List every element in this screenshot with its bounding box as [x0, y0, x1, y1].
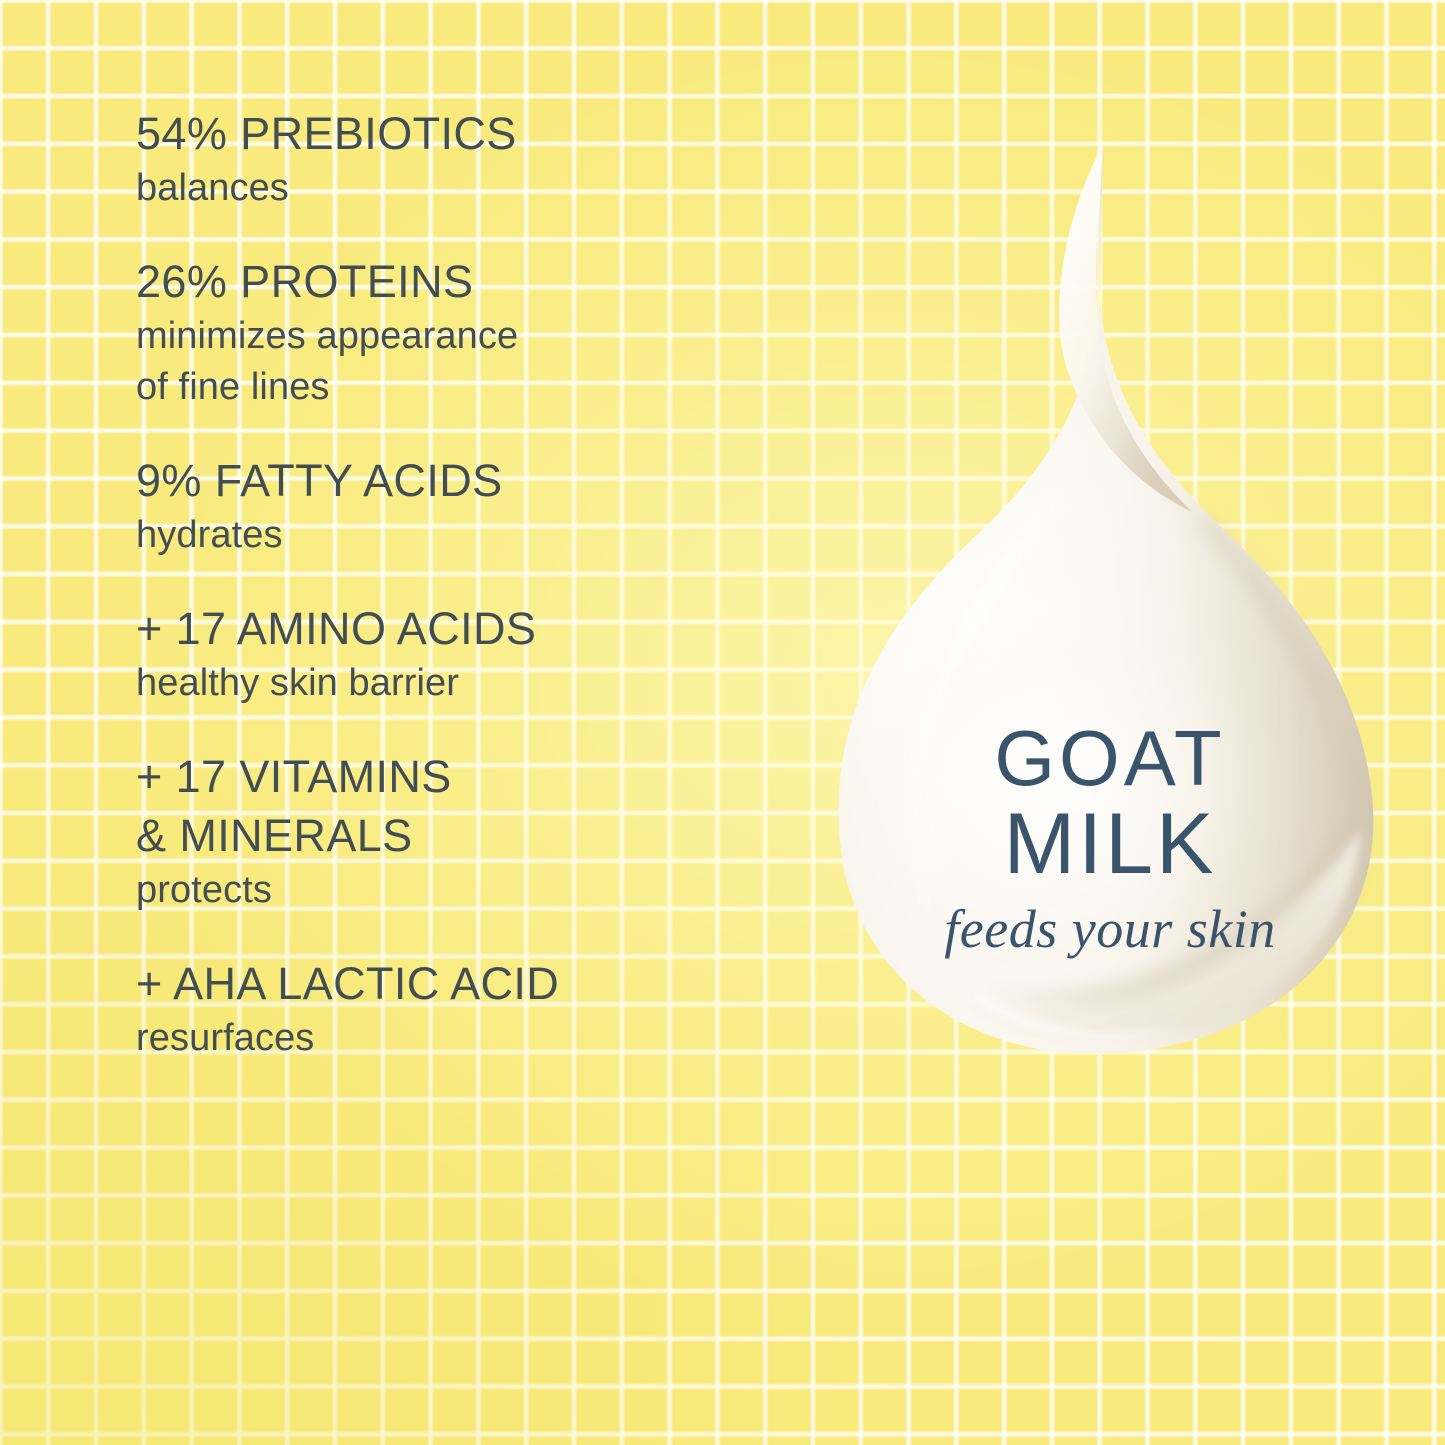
ingredient-list: 54% PREBIOTICS balances 26% PROTEINS min…	[136, 104, 836, 1064]
goat-milk-infographic: 54% PREBIOTICS balances 26% PROTEINS min…	[0, 0, 1445, 1445]
ingredient-item-prebiotics: 54% PREBIOTICS balances	[136, 104, 836, 214]
ingredient-item-aha-lactic-acid: + AHA LACTIC ACID resurfaces	[136, 954, 836, 1064]
ingredient-headline: + 17 VITAMINS & MINERALS	[136, 747, 836, 865]
ingredient-item-vitamins-minerals: + 17 VITAMINS & MINERALS protects	[136, 747, 836, 916]
ingredient-headline: + AHA LACTIC ACID	[136, 954, 836, 1013]
ingredient-item-fatty-acids: 9% FATTY ACIDS hydrates	[136, 451, 836, 561]
ingredient-headline: 26% PROTEINS	[136, 252, 836, 311]
milk-droplet-illustration	[800, 130, 1420, 1170]
ingredient-item-amino-acids: + 17 AMINO ACIDS healthy skin barrier	[136, 599, 836, 709]
ingredient-headline: 54% PREBIOTICS	[136, 104, 836, 163]
ingredient-benefit: resurfaces	[136, 1013, 836, 1064]
ingredient-benefit: balances	[136, 163, 836, 214]
ingredient-item-proteins: 26% PROTEINS minimizes appearance of fin…	[136, 252, 836, 413]
ingredient-benefit: minimizes appearance of fine lines	[136, 311, 836, 413]
ingredient-benefit: hydrates	[136, 510, 836, 561]
ingredient-headline: + 17 AMINO ACIDS	[136, 599, 836, 658]
ingredient-benefit: protects	[136, 865, 836, 916]
ingredient-benefit: healthy skin barrier	[136, 658, 836, 709]
milk-droplet-icon	[800, 130, 1420, 1170]
ingredient-headline: 9% FATTY ACIDS	[136, 451, 836, 510]
